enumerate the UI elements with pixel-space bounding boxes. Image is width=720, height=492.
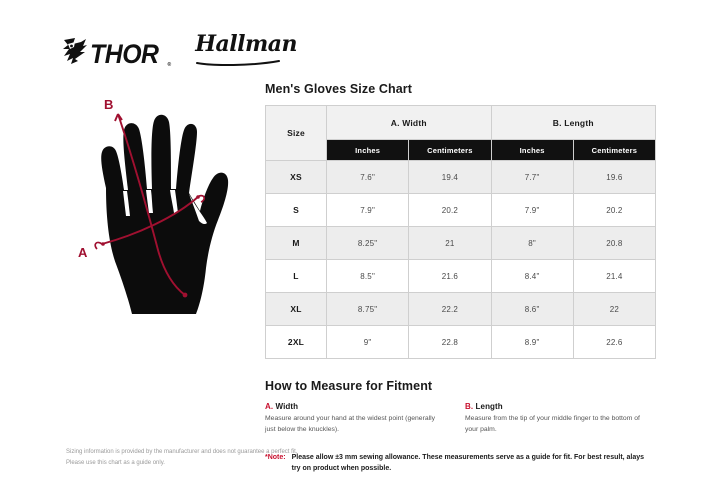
diagram-label-width: A	[78, 245, 88, 260]
footer-line-1: Sizing information is provided by the ma…	[66, 447, 366, 458]
hand-measurement-diagram: B A	[66, 92, 266, 322]
footer-disclaimer: Sizing information is provided by the ma…	[66, 447, 366, 468]
brand-header: THOR ® Hallman	[62, 33, 297, 75]
cell-width-cm: 19.4	[409, 161, 491, 194]
cell-length-cm: 22	[573, 293, 655, 326]
measure-item-letter: B.	[465, 402, 473, 411]
measure-item-heading: A. Width	[265, 402, 465, 411]
column-group-length: B. Length	[491, 106, 656, 140]
column-group-width: A. Width	[327, 106, 492, 140]
measure-item-letter: A.	[265, 402, 273, 411]
cell-width-in: 7.6"	[327, 161, 409, 194]
cell-size: S	[266, 194, 327, 227]
measure-instructions: A. Width Measure around your hand at the…	[265, 402, 657, 435]
measure-item-text: Measure from the tip of your middle fing…	[465, 414, 647, 435]
cell-width-cm: 22.2	[409, 293, 491, 326]
cell-width-in: 8.25"	[327, 227, 409, 260]
cell-size: XL	[266, 293, 327, 326]
cell-length-in: 7.7"	[491, 161, 573, 194]
cell-width-cm: 22.8	[409, 326, 491, 359]
cell-width-cm: 21	[409, 227, 491, 260]
measure-item-name: Length	[476, 402, 503, 411]
measure-item-width: A. Width Measure around your hand at the…	[265, 402, 465, 435]
cell-width-cm: 20.2	[409, 194, 491, 227]
cell-length-cm: 21.4	[573, 260, 655, 293]
page-title: Men's Gloves Size Chart	[265, 82, 657, 96]
cell-length-in: 8"	[491, 227, 573, 260]
cell-length-in: 8.6"	[491, 293, 573, 326]
column-header-width-inches: Inches	[327, 140, 409, 161]
cell-size: 2XL	[266, 326, 327, 359]
cell-length-cm: 19.6	[573, 161, 655, 194]
cell-width-in: 9"	[327, 326, 409, 359]
column-header-width-centimeters: Centimeters	[409, 140, 491, 161]
measure-item-heading: B. Length	[465, 402, 657, 411]
hallman-logo: Hallman	[195, 33, 297, 75]
cell-width-in: 8.5"	[327, 260, 409, 293]
trademark-symbol: ®	[168, 62, 172, 71]
table-body: XS 7.6" 19.4 7.7" 19.6 S 7.9" 20.2 7.9" …	[266, 161, 656, 359]
cell-length-cm: 22.6	[573, 326, 655, 359]
column-header-size: Size	[266, 106, 327, 161]
hand-silhouette	[101, 115, 228, 314]
cell-length-cm: 20.8	[573, 227, 655, 260]
cell-size: L	[266, 260, 327, 293]
table-row: XS 7.6" 19.4 7.7" 19.6	[266, 161, 656, 194]
table-row: XL 8.75" 22.2 8.6" 22	[266, 293, 656, 326]
table-header-row-groups: Size A. Width B. Length	[266, 106, 656, 140]
column-header-length-centimeters: Centimeters	[573, 140, 655, 161]
table-row: S 7.9" 20.2 7.9" 20.2	[266, 194, 656, 227]
table-row: L 8.5" 21.6 8.4" 21.4	[266, 260, 656, 293]
column-header-length-inches: Inches	[491, 140, 573, 161]
cell-length-cm: 20.2	[573, 194, 655, 227]
measure-item-length: B. Length Measure from the tip of your m…	[465, 402, 657, 435]
measure-section-title: How to Measure for Fitment	[265, 379, 657, 393]
table-header: Size A. Width B. Length Inches Centimete…	[266, 106, 656, 161]
measure-item-name: Width	[276, 402, 299, 411]
cell-width-cm: 21.6	[409, 260, 491, 293]
thor-hammer-icon	[62, 37, 88, 71]
cell-size: M	[266, 227, 327, 260]
cell-width-in: 7.9"	[327, 194, 409, 227]
cell-size: XS	[266, 161, 327, 194]
cell-length-in: 8.9"	[491, 326, 573, 359]
cell-width-in: 8.75"	[327, 293, 409, 326]
cell-length-in: 8.4"	[491, 260, 573, 293]
table-row: M 8.25" 21 8" 20.8	[266, 227, 656, 260]
thor-wordmark: THOR	[90, 41, 159, 68]
footer-line-2: Please use this chart as a guide only.	[66, 458, 366, 469]
cell-length-in: 7.9"	[491, 194, 573, 227]
table-row: 2XL 9" 22.8 8.9" 22.6	[266, 326, 656, 359]
diagram-label-length: B	[104, 97, 113, 112]
size-chart-table: Size A. Width B. Length Inches Centimete…	[265, 105, 656, 359]
size-chart-panel: Men's Gloves Size Chart Size A. Width B.…	[265, 82, 657, 475]
thor-logo: THOR ®	[62, 37, 171, 71]
measure-item-text: Measure around your hand at the widest p…	[265, 414, 447, 435]
